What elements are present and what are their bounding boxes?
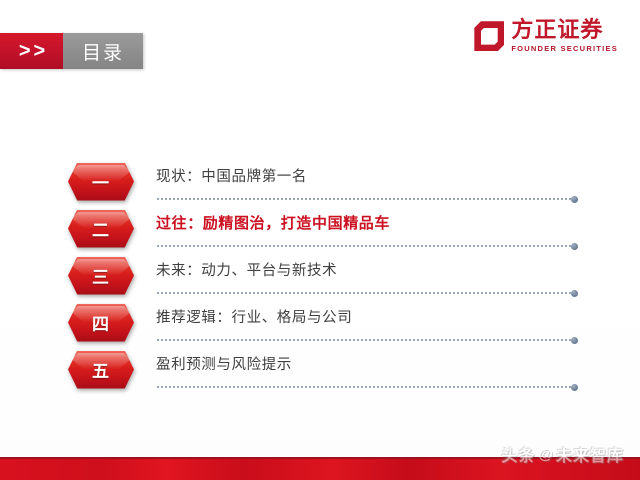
founder-hexagon-logo-icon: [474, 21, 504, 51]
toc-number-1: 一: [68, 163, 134, 201]
toc-label-5: 盈利预测与风险提示: [156, 353, 292, 374]
toc-number-badge-1: 一: [68, 163, 134, 201]
toc-item-3[interactable]: 三 未来：动力、平台与新技术: [0, 252, 640, 299]
toc-row-body-2: 过往：励精图治，打造中国精品车: [156, 210, 640, 248]
toc-number-badge-4: 四: [68, 304, 134, 342]
toc-number-badge-5: 五: [68, 351, 134, 389]
presentation-slide: >> 目录 方正证券 FOUNDER SECURITIES 一 现状：中国品牌第…: [0, 0, 640, 480]
footer-band: [0, 457, 640, 480]
page-title: 目录: [63, 33, 143, 69]
toc-end-dot-1: [571, 196, 578, 203]
toc-end-dot-4: [571, 337, 578, 344]
toc-dotted-rule-4: [156, 339, 572, 341]
toc-row-body-4: 推荐逻辑：行业、格局与公司: [156, 304, 640, 342]
toc-label-2: 过往：励精图治，打造中国精品车: [156, 212, 390, 233]
toc-dotted-rule-3: [156, 292, 572, 294]
toc-row-body-1: 现状：中国品牌第一名: [156, 163, 640, 201]
toc-label-4: 推荐逻辑：行业、格局与公司: [156, 306, 352, 327]
toc-dotted-rule-2: [156, 245, 572, 247]
toc-number-5: 五: [68, 351, 134, 389]
toc-number-badge-2: 二: [68, 210, 134, 248]
toc-label-3: 未来：动力、平台与新技术: [156, 259, 337, 280]
toc-dotted-rule-5: [156, 386, 572, 388]
toc-end-dot-3: [571, 290, 578, 297]
slide-title-chip: >> 目录: [0, 33, 143, 69]
toc-row-body-5: 盈利预测与风险提示: [156, 351, 640, 389]
toc-row-body-3: 未来：动力、平台与新技术: [156, 257, 640, 295]
toc-end-dot-2: [571, 243, 578, 250]
toc-number-2: 二: [68, 210, 134, 248]
toc-label-1: 现状：中国品牌第一名: [156, 165, 307, 186]
toc-dotted-rule-1: [156, 198, 572, 200]
toc-number-4: 四: [68, 304, 134, 342]
toc-item-2[interactable]: 二 过往：励精图治，打造中国精品车: [0, 205, 640, 252]
table-of-contents: 一 现状：中国品牌第一名 二 过往：励精图治，打造中国精品车: [0, 158, 640, 393]
toc-item-4[interactable]: 四 推荐逻辑：行业、格局与公司: [0, 299, 640, 346]
chevron-icon: >>: [0, 33, 63, 69]
brand-name-cn: 方正证券: [511, 20, 618, 42]
toc-number-badge-3: 三: [68, 257, 134, 295]
toc-number-3: 三: [68, 257, 134, 295]
brand-logo: 方正证券 FOUNDER SECURITIES: [474, 20, 618, 53]
toc-item-5[interactable]: 五 盈利预测与风险提示: [0, 346, 640, 393]
toc-item-1[interactable]: 一 现状：中国品牌第一名: [0, 158, 640, 205]
brand-text: 方正证券 FOUNDER SECURITIES: [511, 20, 618, 53]
brand-name-en: FOUNDER SECURITIES: [511, 45, 618, 53]
toc-end-dot-5: [571, 384, 578, 391]
